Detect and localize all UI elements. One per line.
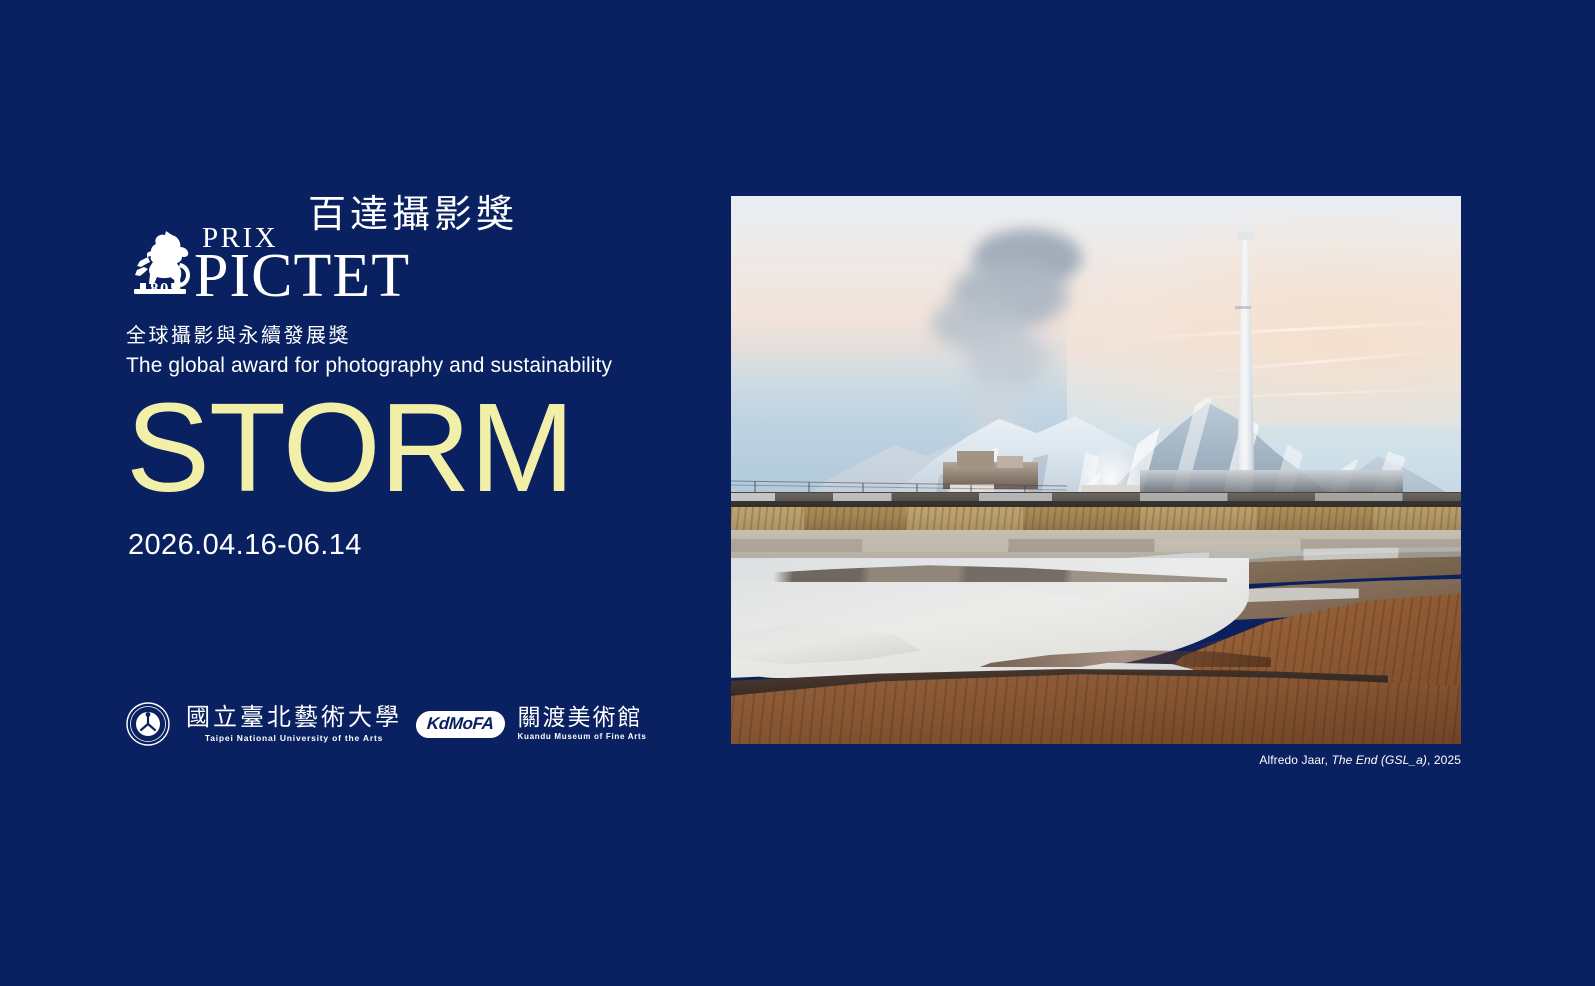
tnua-name-block: 國立臺北藝術大學 Taipei National University of t…	[186, 705, 402, 742]
photo-dry-grass-texture	[731, 507, 1461, 532]
photograph-artwork	[731, 196, 1461, 744]
photo-industrial-buildings	[957, 451, 994, 467]
photo-industrial-yard	[1140, 470, 1403, 492]
tnua-name-english: Taipei National University of the Arts	[186, 733, 402, 743]
photo-smokestack-band	[1235, 306, 1251, 309]
brand-pictet-word: PICTET	[194, 245, 410, 307]
prix-pictet-brand-block: 1805 PRIX PICTET 百達攝影獎	[126, 193, 646, 305]
kdmofa-name-english: Kuandu Museum of Fine Arts	[518, 732, 647, 742]
page-title: STORM	[126, 385, 574, 511]
kdmofa-name-cjk: 關渡美術館	[518, 706, 647, 730]
photo-smokestack-cap	[1238, 232, 1253, 240]
brand-lockup-row: 1805 PRIX PICTET 百達攝影獎	[126, 193, 646, 305]
partner-logos: 國立臺北藝術大學 Taipei National University of t…	[126, 700, 647, 748]
photo-berm-snow	[731, 493, 1461, 501]
caption-artist: Alfredo Jaar,	[1259, 753, 1328, 767]
kdmofa-name-block: 關渡美術館 Kuandu Museum of Fine Arts	[518, 706, 647, 742]
kdmofa-wordmark: KdMoFA	[415, 711, 505, 738]
caption-title: The End (GSL_a)	[1331, 753, 1427, 767]
brand-cjk-award-name: 百達攝影獎	[308, 193, 518, 237]
poster-left-column: 1805 PRIX PICTET 百達攝影獎 全球攝影與永續發展獎 The gl…	[0, 0, 700, 986]
photo-caption: Alfredo Jaar, The End (GSL_a), 2025	[731, 753, 1461, 767]
tagline-cjk: 全球攝影與永續發展獎	[126, 322, 686, 349]
caption-year: , 2025	[1427, 753, 1461, 767]
photo-industrial-buildings	[997, 456, 1023, 468]
exhibition-dates: 2026.04.16-06.14	[128, 529, 362, 562]
tnua-seal-icon	[126, 702, 170, 746]
exhibition-photograph	[731, 196, 1461, 744]
tagline-block: 全球攝影與永續發展獎 The global award for photogra…	[126, 322, 686, 381]
brand-year-mark: 1805	[128, 279, 192, 299]
tnua-name-cjk: 國立臺北藝術大學	[186, 705, 402, 730]
